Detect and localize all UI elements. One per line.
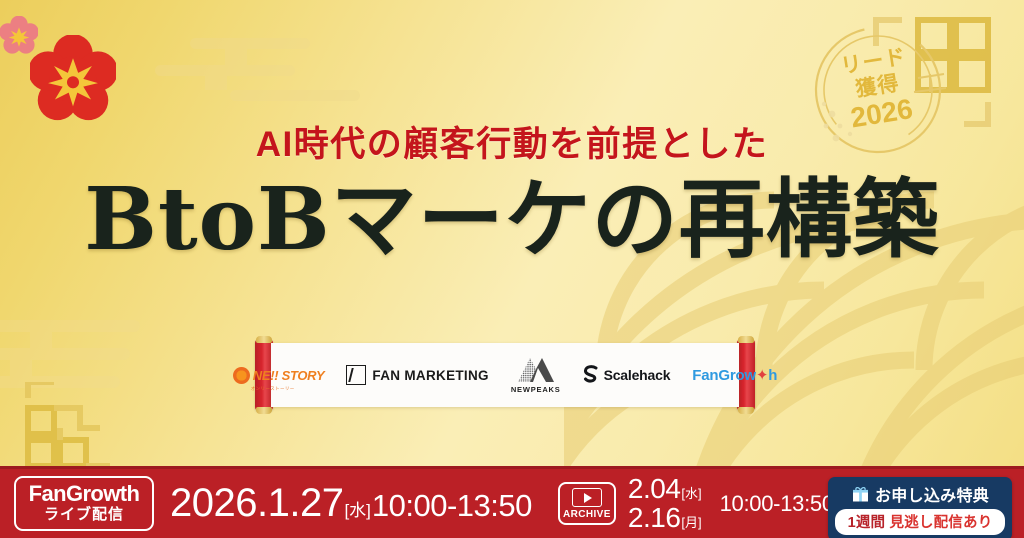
- archive-badge: ARCHIVE: [558, 482, 616, 525]
- archive-dow-2: [月]: [681, 516, 701, 529]
- archive-dates: 2.04 [水] 2.16 [月]: [628, 475, 702, 532]
- webinar-banner: リード 獲得 2026 AI時代の顧客行動を前提とした BtoBマーケの再構築 …: [0, 0, 1024, 538]
- live-badge-brand: FanGrowth: [29, 483, 140, 505]
- cloud-pattern-bottom: [0, 300, 270, 440]
- scalehack-label: Scalehack: [604, 367, 671, 383]
- fan-marketing-mark-icon: [346, 365, 366, 385]
- gift-title-row: お申し込み特典: [851, 482, 989, 506]
- live-dow: [水]: [344, 496, 370, 521]
- logo-scalehack: Scalehack: [583, 365, 671, 385]
- newpeaks-mark-icon: [516, 357, 556, 383]
- logo-fangrowth: FanGrow✦h: [692, 366, 777, 384]
- plum-blossom-icon: [30, 35, 116, 121]
- plum-blossom-small-icon: [0, 16, 38, 54]
- archive-dow-1: [水]: [681, 487, 701, 500]
- one-story-sun-icon: [233, 367, 250, 384]
- one-story-label: NE!! STORY: [253, 368, 325, 383]
- archive-date-row: 2.04 [水]: [628, 475, 702, 504]
- newpeaks-label: NEWPEAKS: [511, 385, 561, 394]
- fangrowth-label: FanGrow✦h: [692, 366, 777, 384]
- logo-one-story: NE!! STORY オンリーストーリー: [233, 367, 325, 384]
- live-time: 10:00-13:50: [372, 488, 532, 524]
- logo-strip: NE!! STORY オンリーストーリー FAN MARKETING: [271, 343, 739, 407]
- archive-label: ARCHIVE: [563, 509, 611, 520]
- archive-time: 10:00-13:50: [720, 491, 834, 517]
- gift-benefit-badge: お申し込み特典 1週間 見逃し配信あり: [828, 477, 1012, 538]
- logo-newpeaks: NEWPEAKS: [511, 357, 561, 394]
- headline-block: AI時代の顧客行動を前提とした BtoBマーケの再構築: [0, 126, 1024, 263]
- gift-title: お申し込み特典: [875, 482, 989, 506]
- live-date: 2026.1.27: [170, 481, 343, 526]
- subtitle: AI時代の顧客行動を前提とした: [0, 126, 1024, 165]
- sayagata-pattern-bottom-left: [14, 382, 174, 472]
- archive-date-1: 2.04: [628, 475, 681, 504]
- logo-fan-marketing: FAN MARKETING: [346, 365, 488, 385]
- fan-marketing-label: FAN MARKETING: [372, 368, 488, 383]
- archive-date-2: 2.16: [628, 504, 681, 533]
- page-title: BtoBマーケの再構築: [0, 177, 1024, 263]
- live-badge-label: ライブ配信: [44, 506, 124, 523]
- live-stream-badge: FanGrowth ライブ配信: [14, 476, 154, 531]
- gift-icon: [851, 485, 870, 503]
- gift-pill: 1週間 見逃し配信あり: [835, 509, 1005, 535]
- footer-bar: FanGrowth ライブ配信 2026.1.27 [水] 10:00-13:5…: [0, 466, 1024, 538]
- live-datetime: 2026.1.27 [水] 10:00-13:50: [170, 481, 532, 526]
- sponsor-logo-scroll: NE!! STORY オンリーストーリー FAN MARKETING: [255, 339, 755, 411]
- scalehack-mark-icon: [583, 365, 599, 385]
- play-icon: [572, 488, 602, 507]
- archive-date-row: 2.16 [月]: [628, 504, 702, 533]
- one-story-sublabel: オンリーストーリー: [251, 386, 295, 392]
